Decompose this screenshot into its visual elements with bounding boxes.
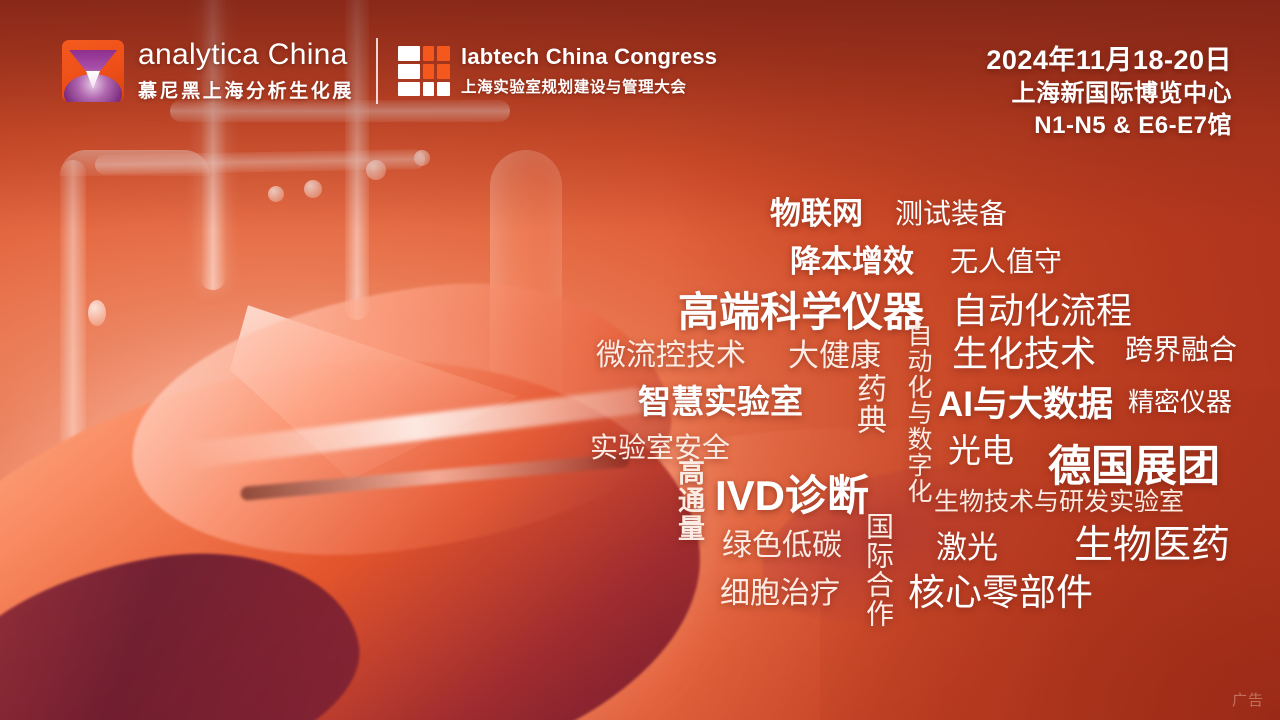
keyword-item: 光电 <box>948 424 1014 472</box>
logo-block-icon <box>398 64 420 79</box>
logo-block-icon <box>437 82 450 96</box>
event-venue: 上海新国际博览中心 <box>986 79 1232 109</box>
logo-block-icon <box>437 46 450 61</box>
event-date: 2024年11月18-20日 <box>986 44 1232 77</box>
keyword-item: 微流控技术 <box>596 330 746 374</box>
keyword-item: 激光 <box>936 522 998 567</box>
keyword-item: 跨界融合 <box>1125 328 1237 368</box>
labtech-name-cn: 上海实验室规划建设与管理大会 <box>461 75 717 97</box>
keyword-item: 降本增效 <box>790 236 914 281</box>
logo-block-icon <box>398 82 420 96</box>
labtech-brand-text: labtech China Congress 上海实验室规划建设与管理大会 <box>461 45 717 96</box>
logo-block-icon <box>437 64 450 79</box>
keyword-item: 绿色低碳 <box>722 520 842 564</box>
keyword-item: 无人值守 <box>950 240 1062 280</box>
keyword-item: 高通量 <box>670 458 709 542</box>
keyword-item: IVD诊断 <box>715 462 869 523</box>
labtech-name-en: labtech China Congress <box>461 45 717 69</box>
logo-block-icon <box>423 82 434 96</box>
keyword-item: 国际合作 <box>858 512 898 628</box>
glass-bead-icon <box>88 300 106 326</box>
keyword-item: 自动化与数字化 <box>900 322 936 504</box>
keyword-item: 药典 <box>846 373 890 435</box>
keyword-item: 核心零部件 <box>908 562 1093 616</box>
analytica-name-en: analytica China <box>138 39 354 71</box>
keyword-item: 生物技术与研发实验室 <box>934 482 1184 518</box>
brand-lockup: analytica China 慕尼黑上海分析生化展 labtech China… <box>62 38 717 104</box>
keyword-item: 智慧实验室 <box>638 375 803 423</box>
event-info: 2024年11月18-20日 上海新国际博览中心 N1-N5 & E6-E7馆 <box>986 44 1232 140</box>
keyword-item: 精密仪器 <box>1128 382 1232 419</box>
vertical-divider-icon <box>376 38 378 104</box>
analytica-funnel-logo-icon <box>62 40 124 102</box>
keyword-item: 高端科学仪器 <box>678 278 924 338</box>
keyword-item: 细胞治疗 <box>720 568 840 612</box>
ad-watermark: 广告 <box>1232 689 1264 710</box>
keyword-item: 测试装备 <box>895 192 1007 232</box>
header: analytica China 慕尼黑上海分析生化展 labtech China… <box>0 0 1280 150</box>
event-halls: N1-N5 & E6-E7馆 <box>986 111 1232 141</box>
keyword-item: 物联网 <box>770 188 863 233</box>
keyword-item: AI与大数据 <box>938 376 1113 427</box>
keyword-item: 生物医药 <box>1074 514 1230 570</box>
keyword-item: 实验室安全 <box>590 426 730 466</box>
logo-block-icon <box>398 46 420 61</box>
analytica-name-cn: 慕尼黑上海分析生化展 <box>138 76 354 103</box>
keyword-item: 大健康 <box>788 330 881 375</box>
logo-block-icon <box>423 46 434 61</box>
ad-banner: analytica China 慕尼黑上海分析生化展 labtech China… <box>0 0 1280 720</box>
logo-block-icon <box>423 64 434 79</box>
labtech-blocks-logo-icon <box>398 45 448 97</box>
keyword-cloud: 物联网测试装备降本增效无人值守高端科学仪器自动化流程微流控技术大健康自动化与数字… <box>560 170 1280 690</box>
analytica-brand-text: analytica China 慕尼黑上海分析生化展 <box>138 39 354 103</box>
keyword-item: 生化技术 <box>952 325 1096 377</box>
